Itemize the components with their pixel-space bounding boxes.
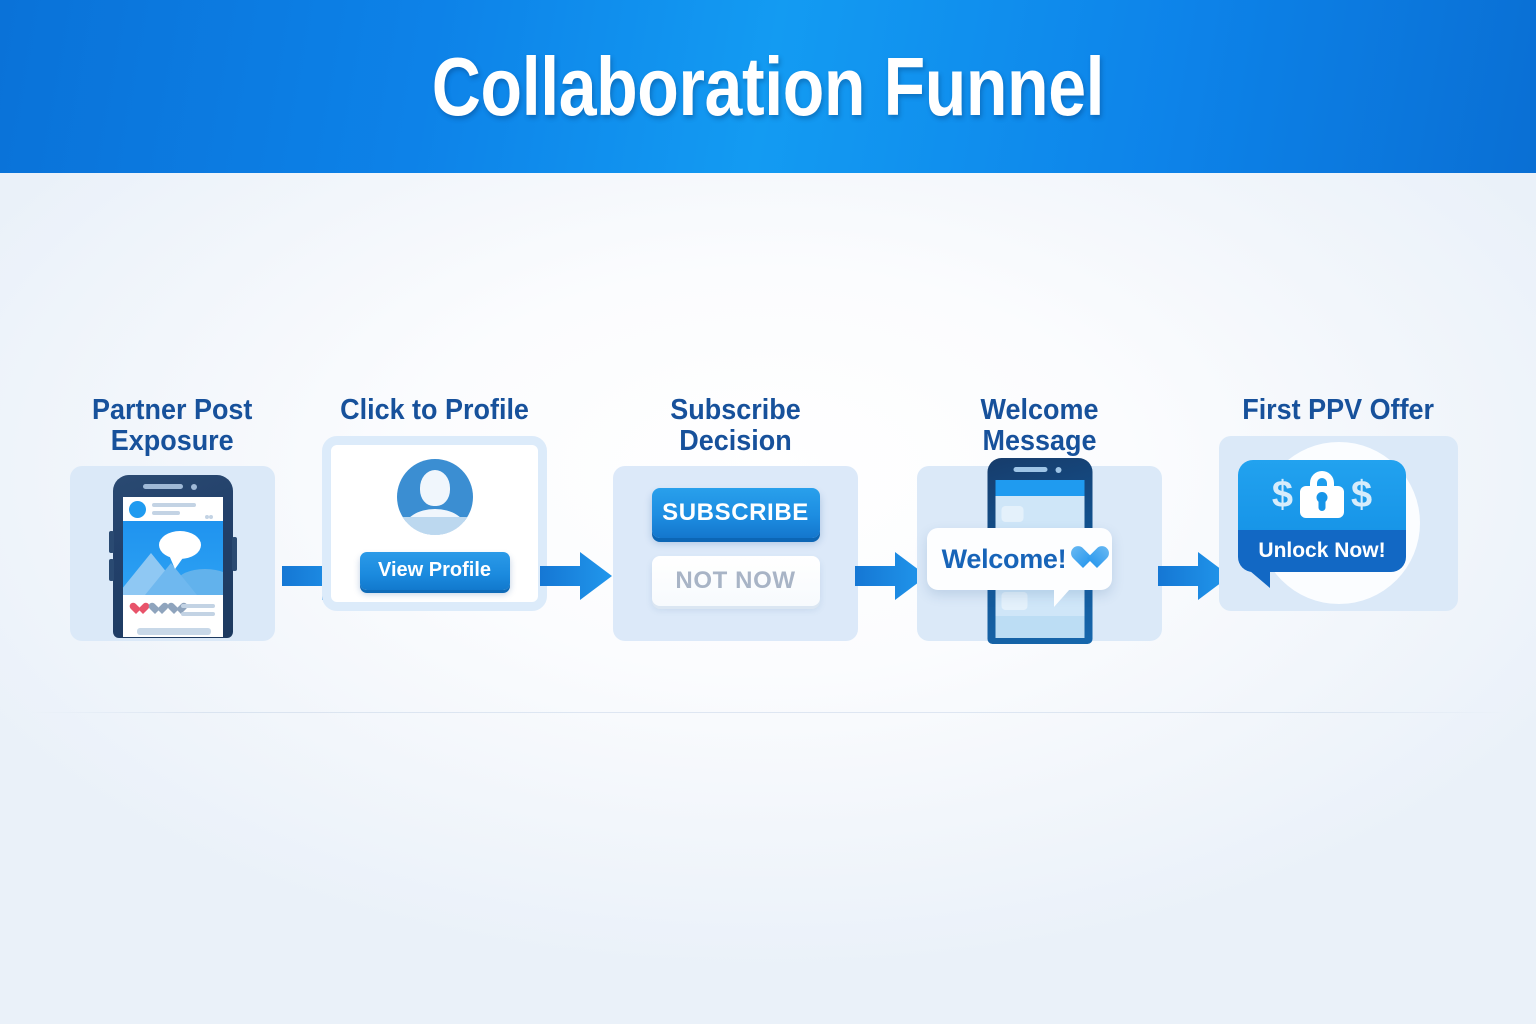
- lock-icon: [1300, 471, 1344, 518]
- step-illustration-card: SUBSCRIBE NOT NOW: [613, 466, 858, 641]
- comment-bubble-icon: [159, 531, 201, 559]
- step-label: Subscribe Decision: [622, 395, 850, 456]
- header-banner: Collaboration Funnel: [0, 0, 1536, 173]
- post-more-options-icon[interactable]: [205, 506, 217, 510]
- heart-gray-icon: [149, 603, 162, 615]
- dollar-sign-icon: $: [1272, 476, 1293, 514]
- connector-arrow-2: [540, 550, 612, 602]
- section-divider: [30, 712, 1506, 713]
- step-label: Click to Profile: [340, 395, 529, 426]
- subscribe-button[interactable]: SUBSCRIBE: [652, 488, 820, 538]
- reaction-row: [130, 603, 181, 615]
- phone-volume-down-button: [109, 559, 114, 581]
- paid-message-bubble: $ $ Unlock Now!: [1238, 460, 1406, 572]
- avatar-shoulder: [397, 517, 473, 535]
- step-label: Partner Post Exposure: [92, 395, 252, 456]
- step-illustration-card: [70, 466, 275, 641]
- phone-camera-icon: [191, 484, 197, 490]
- locked-content-banner: $ $: [1238, 460, 1406, 530]
- welcome-message-bubble: Welcome!: [927, 528, 1112, 590]
- dollar-sign-icon: $: [1351, 476, 1372, 514]
- phone-speaker-icon: [1013, 467, 1047, 472]
- profile-avatar-icon: [397, 459, 473, 535]
- post-caption-line: [181, 604, 215, 608]
- funnel-step-welcome-message[interactable]: Welcome Message Welcome!: [917, 395, 1162, 641]
- post-header: [123, 497, 223, 521]
- heart-gray-icon: [168, 603, 181, 615]
- phone-speaker-icon: [143, 484, 183, 489]
- chat-message-placeholder: [1001, 506, 1023, 522]
- post-author-name-placeholder: [152, 503, 196, 507]
- heart-red-icon: [130, 603, 143, 615]
- step-illustration-card: View Profile: [322, 436, 547, 611]
- not-now-button[interactable]: NOT NOW: [652, 556, 820, 606]
- step-illustration-card: Welcome!: [917, 466, 1162, 641]
- view-profile-button[interactable]: View Profile: [360, 552, 510, 590]
- post-author-avatar: [129, 501, 146, 518]
- chat-message-placeholder: [1001, 592, 1027, 610]
- step-label: Welcome Message: [926, 395, 1154, 456]
- post-comment-field: [137, 628, 211, 635]
- page-title: Collaboration Funnel: [432, 45, 1104, 128]
- post-image: [123, 521, 223, 595]
- step-illustration-card: $ $ Unlock Now!: [1219, 436, 1458, 611]
- post-meta-placeholder: [152, 511, 180, 515]
- phone-volume-up-button: [109, 531, 114, 553]
- heart-blue-icon: [1070, 547, 1097, 572]
- funnel-step-partner-post-exposure[interactable]: Partner Post Exposure: [70, 395, 275, 641]
- funnel-step-subscribe-decision[interactable]: Subscribe Decision SUBSCRIBE NOT NOW: [613, 395, 858, 641]
- funnel-diagram: Partner Post Exposure: [0, 395, 1536, 685]
- unlock-now-button[interactable]: Unlock Now!: [1238, 530, 1406, 572]
- step-label: First PPV Offer: [1243, 395, 1435, 426]
- phone-power-button: [232, 537, 237, 571]
- welcome-bubble-text: Welcome!: [942, 544, 1067, 575]
- phone-mockup-icon: [113, 475, 233, 638]
- funnel-step-click-to-profile[interactable]: Click to Profile View Profile: [322, 395, 547, 611]
- phone-screen: [123, 497, 223, 637]
- funnel-step-first-ppv-offer[interactable]: First PPV Offer $ $ Unlock Now!: [1219, 395, 1458, 611]
- post-footer: [123, 595, 223, 637]
- avatar-head: [420, 470, 450, 506]
- lock-keyhole: [1319, 497, 1326, 511]
- chat-app-bar: [995, 480, 1084, 496]
- phone-camera-icon: [1055, 467, 1061, 473]
- chat-input-bar: [995, 616, 1084, 638]
- post-caption-line: [181, 612, 215, 616]
